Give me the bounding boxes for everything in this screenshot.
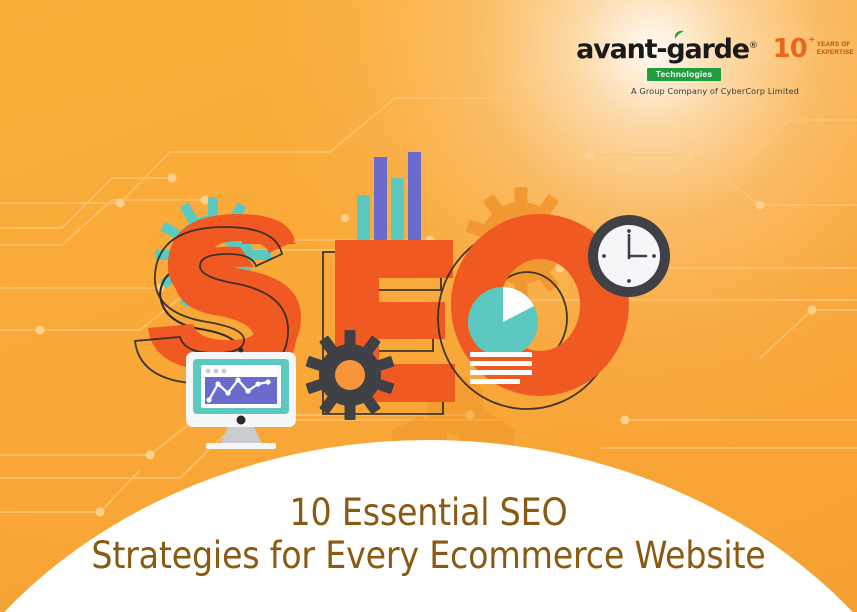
leaf-icon xyxy=(673,30,685,42)
page-title-line1: 10 Essential SEO xyxy=(290,491,568,534)
years-badge-line1: YEARS OF xyxy=(817,41,851,48)
brand-logo[interactable]: avant-garde® 10 + YEARS OF EXPERTISE Tec… xyxy=(600,34,830,96)
years-badge-text: YEARS OF EXPERTISE xyxy=(817,41,854,57)
registered-icon: ® xyxy=(749,41,757,51)
page-title: 10 Essential SEO Strategies for Every Ec… xyxy=(0,492,857,578)
years-badge-number: 10 xyxy=(773,36,807,62)
seo-blog-banner: avant-garde® 10 + YEARS OF EXPERTISE Tec… xyxy=(0,0,857,612)
brand-name: avant-garde xyxy=(576,34,749,65)
brand-wordmark: avant-garde® xyxy=(576,36,757,63)
technologies-badge: Technologies xyxy=(647,68,722,82)
years-badge-plus: + xyxy=(809,36,815,46)
page-title-line2: Strategies for Every Ecommerce Website xyxy=(0,535,857,578)
logo-tagline: A Group Company of CyberCorp Limited xyxy=(600,86,830,96)
years-badge: 10 + YEARS OF EXPERTISE xyxy=(773,36,854,62)
years-badge-line2: EXPERTISE xyxy=(817,49,854,56)
